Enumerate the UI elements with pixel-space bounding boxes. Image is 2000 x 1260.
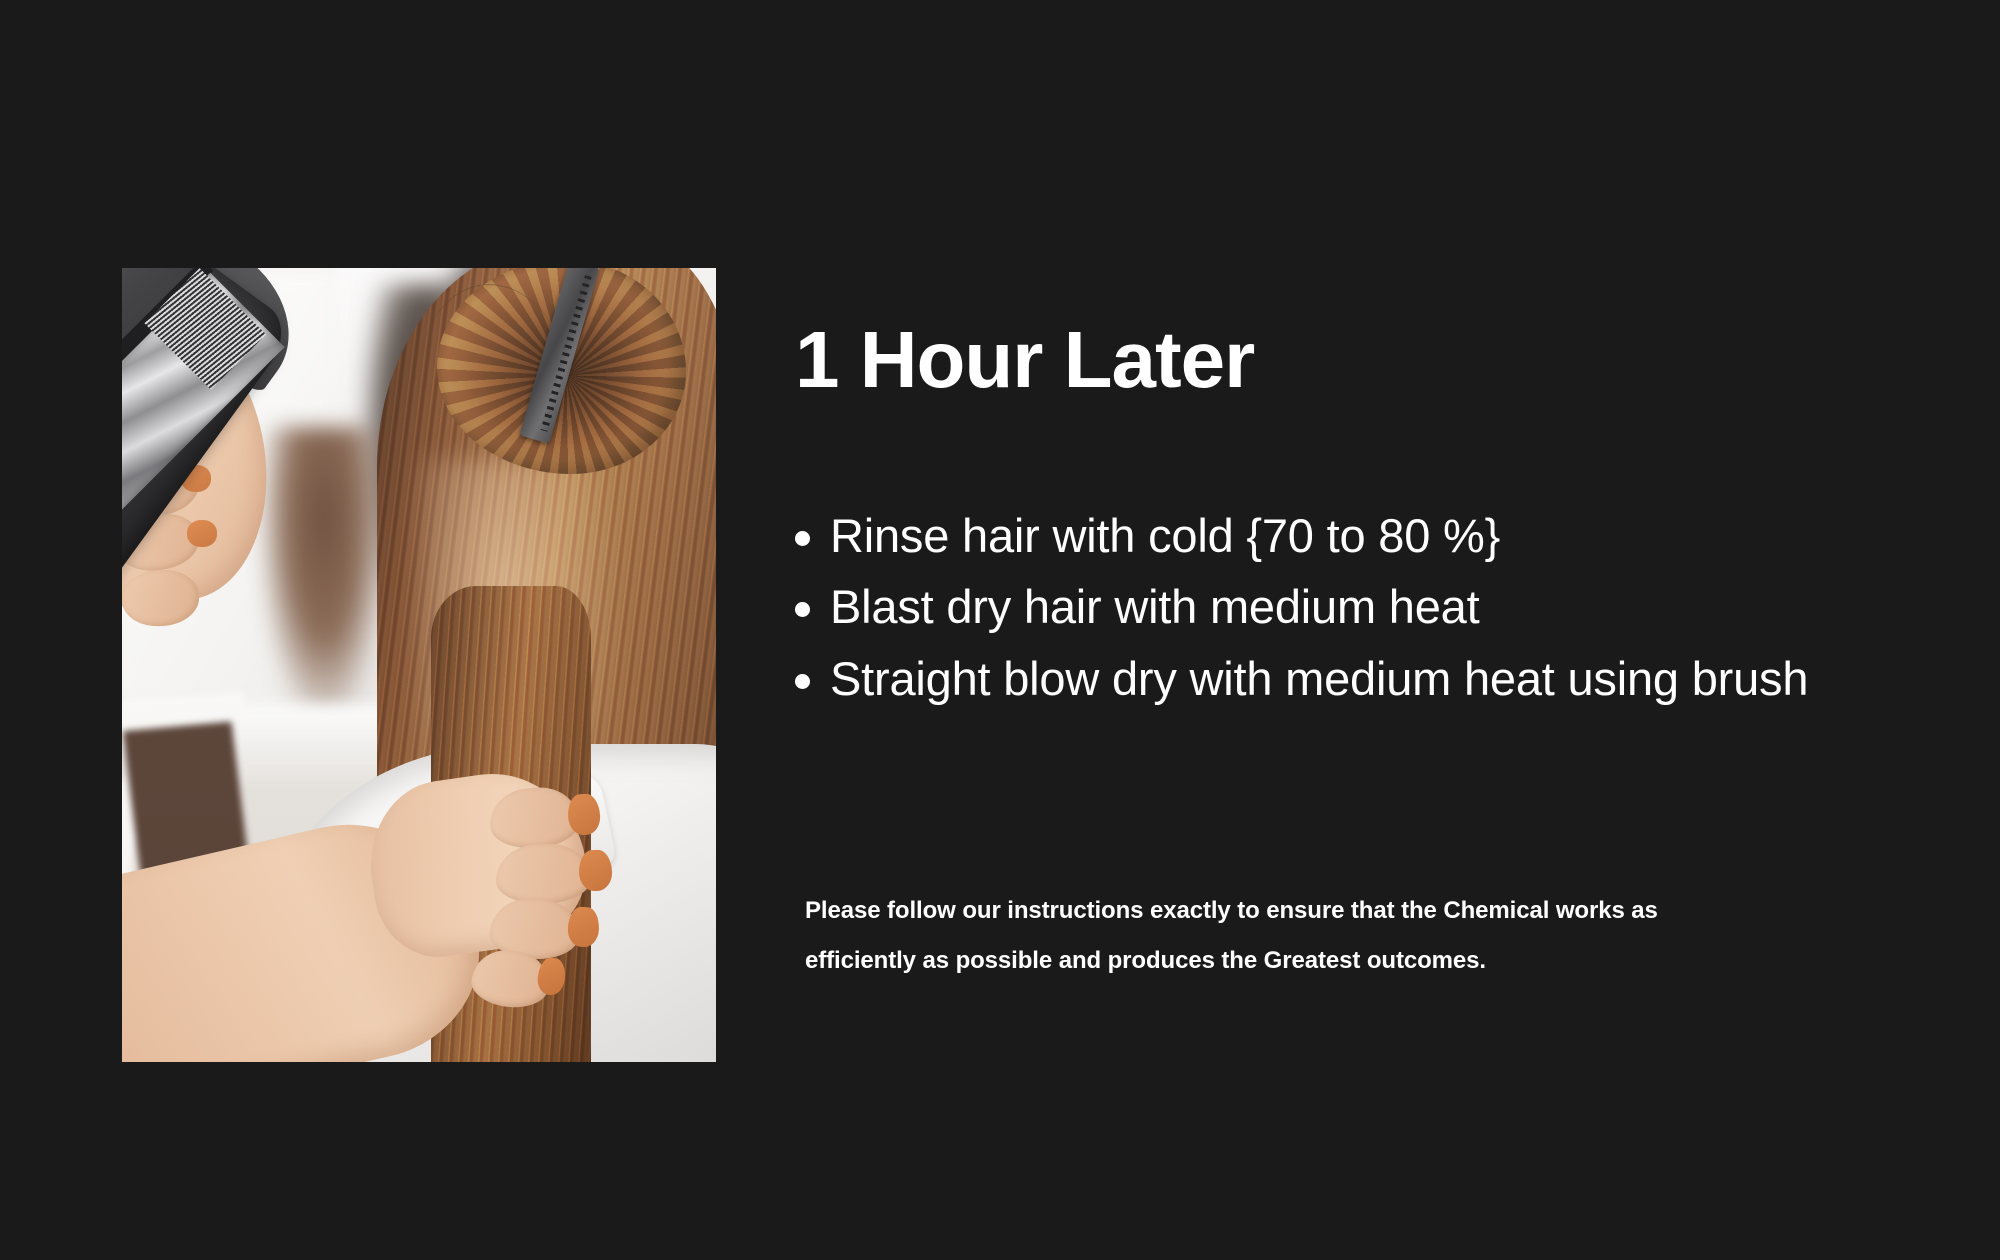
- footer-note: Please follow our instructions exactly t…: [805, 886, 1865, 984]
- bullet-dot-icon: [795, 531, 810, 546]
- slide-canvas: 1 Hour Later Rinse hair with cold {70 to…: [0, 0, 2000, 1260]
- footer-note-line-2: efficiently as possible and produces the…: [805, 936, 1865, 985]
- bullet-dot-icon: [795, 602, 810, 617]
- nail-ring: [566, 906, 599, 947]
- photo-inner: [122, 268, 716, 1062]
- bullet-dot-icon: [795, 674, 810, 689]
- list-item: Rinse hair with cold {70 to 80 %}: [795, 508, 1935, 563]
- instruction-list: Rinse hair with cold {70 to 80 %} Blast …: [795, 508, 1935, 706]
- instruction-text: Blast dry hair with medium heat: [830, 579, 1479, 634]
- page-title: 1 Hour Later: [795, 320, 1935, 400]
- instruction-text: Straight blow dry with medium heat using…: [830, 651, 1808, 706]
- salon-photo: [122, 268, 716, 1062]
- content-column: 1 Hour Later Rinse hair with cold {70 to…: [795, 268, 1935, 985]
- list-item: Blast dry hair with medium heat: [795, 579, 1935, 634]
- instruction-text: Rinse hair with cold {70 to 80 %}: [830, 508, 1500, 563]
- footer-note-line-1: Please follow our instructions exactly t…: [805, 886, 1865, 935]
- list-item: Straight blow dry with medium heat using…: [795, 651, 1935, 706]
